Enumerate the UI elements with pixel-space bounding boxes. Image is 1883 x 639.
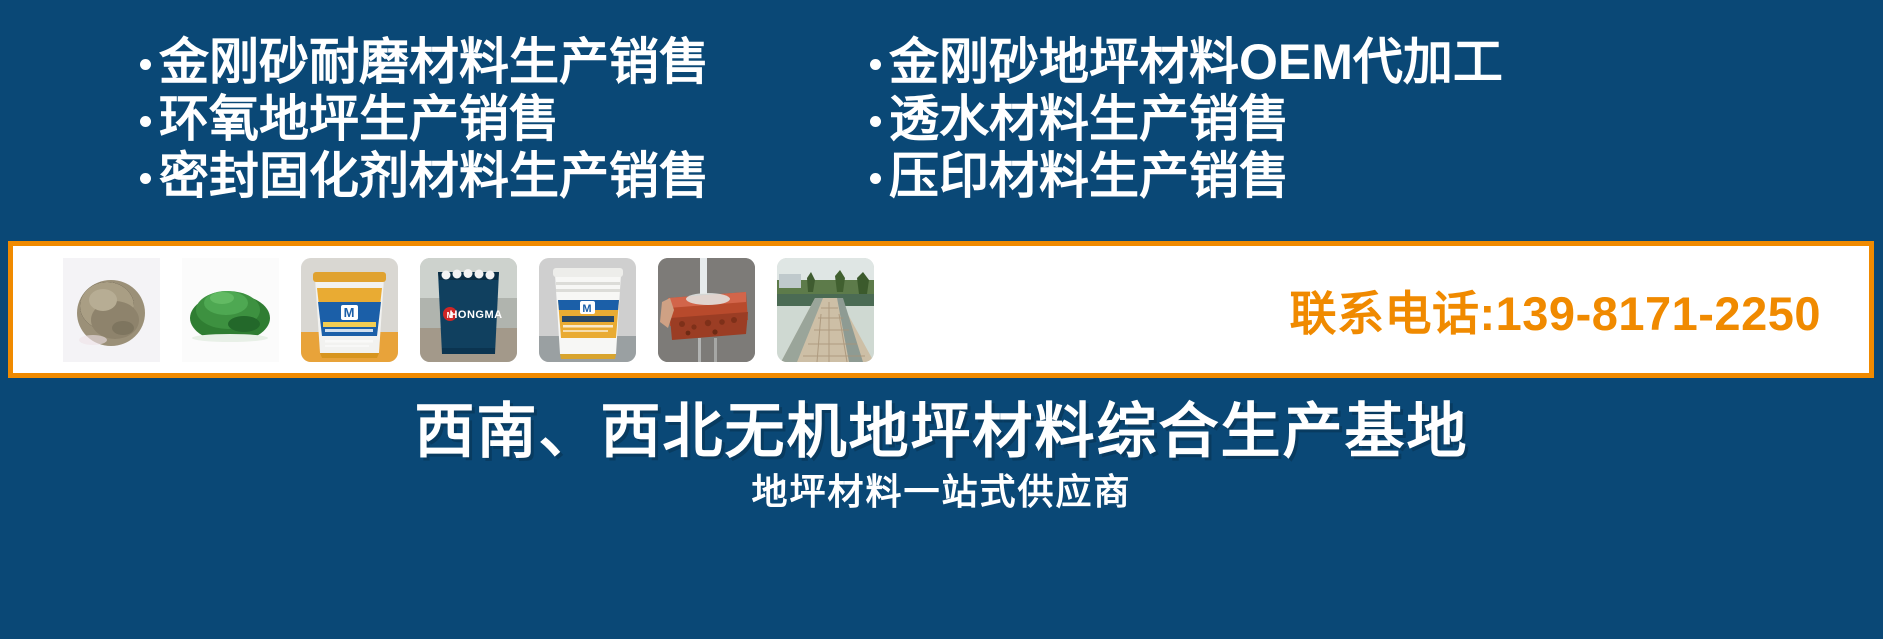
feature-item: 压印材料生产销售 xyxy=(870,148,1740,205)
product-showcase-strip: M xyxy=(8,241,1874,378)
product-thumb-green-abrasive-powder-pile xyxy=(182,258,279,362)
bullet-icon xyxy=(140,173,151,184)
feature-item: 金刚砂耐磨材料生产销售 xyxy=(140,34,870,91)
advertisement-banner: 金刚砂耐磨材料生产销售 环氧地坪生产销售 密封固化剂材料生产销售 金刚砂地坪材料… xyxy=(0,0,1883,639)
svg-text:HONGMA: HONGMA xyxy=(449,309,502,321)
footer-headline: 西南、西北无机地坪材料综合生产基地 xyxy=(0,383,1883,470)
product-thumb-concrete-sealer-bucket: M xyxy=(301,258,398,362)
bullet-icon xyxy=(870,173,881,184)
feature-label: 密封固化剂材料生产销售 xyxy=(159,148,709,206)
feature-label: 压印材料生产销售 xyxy=(889,148,1289,206)
bullet-icon xyxy=(870,59,881,70)
product-thumb-stamped-concrete-path xyxy=(777,258,874,362)
svg-text:M: M xyxy=(344,305,355,320)
feature-column-right: 金刚砂地坪材料OEM代加工 透水材料生产销售 压印材料生产销售 xyxy=(870,34,1740,205)
product-thumb-permeable-concrete-sample xyxy=(658,258,755,362)
svg-text:M: M xyxy=(582,303,591,315)
footer-subline: 地坪材料一站式供应商 xyxy=(0,463,1883,515)
product-thumb-hongma-blue-drum: M HONGMA xyxy=(420,258,517,362)
feature-label: 透水材料生产销售 xyxy=(889,91,1289,149)
product-thumb-gray-abrasive-powder-pile xyxy=(63,258,160,362)
feature-label: 金刚砂地坪材料OEM代加工 xyxy=(889,34,1503,92)
feature-item: 金刚砂地坪材料OEM代加工 xyxy=(870,34,1740,91)
feature-item: 透水材料生产销售 xyxy=(870,91,1740,148)
bullet-icon xyxy=(140,116,151,127)
product-thumbnail-list: M xyxy=(63,258,874,362)
feature-item: 环氧地坪生产销售 xyxy=(140,91,870,148)
feature-label: 环氧地坪生产销售 xyxy=(159,91,559,149)
feature-item: 密封固化剂材料生产销售 xyxy=(140,148,870,205)
feature-label: 金刚砂耐磨材料生产销售 xyxy=(159,34,709,92)
contact-phone-label: 联系电话:139-8171-2250 xyxy=(1290,275,1822,344)
product-thumb-epoxy-floor-coating-bucket: M xyxy=(539,258,636,362)
bullet-icon xyxy=(870,116,881,127)
bullet-icon xyxy=(140,59,151,70)
feature-column-left: 金刚砂耐磨材料生产销售 环氧地坪生产销售 密封固化剂材料生产销售 xyxy=(140,34,870,205)
